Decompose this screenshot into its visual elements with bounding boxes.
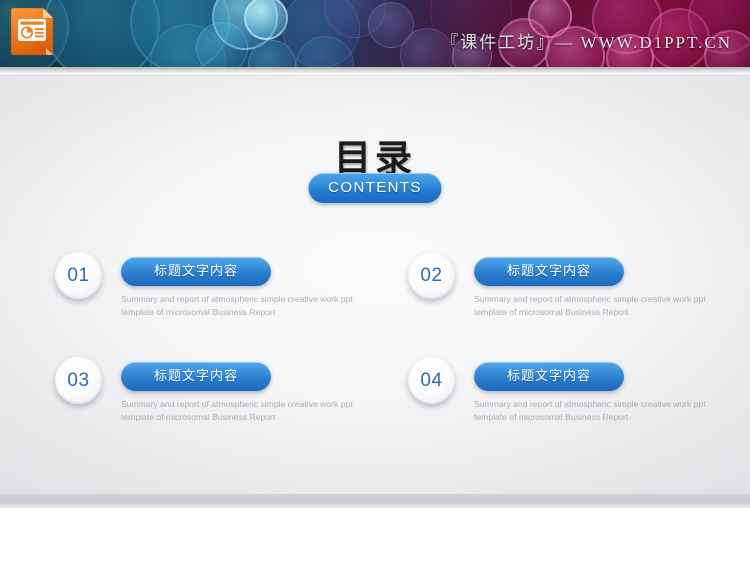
bokeh-circle (212, 0, 278, 50)
header-brand-text: 『课件工坊』— WWW.D1PPT.CN (441, 28, 732, 53)
item-title-pill[interactable]: 标题文字内容 (474, 257, 624, 286)
list-item[interactable]: 04 标题文字内容 Summary and report of atmosphe… (408, 357, 718, 445)
bokeh-circle (282, 0, 360, 67)
item-title-pill[interactable]: 标题文字内容 (474, 362, 624, 391)
item-description: Summary and report of atmospheric simple… (474, 293, 719, 319)
item-number-badge: 03 (55, 357, 102, 404)
bokeh-circle (44, 0, 160, 67)
item-description: Summary and report of atmospheric simple… (121, 398, 366, 424)
item-number-badge: 01 (55, 252, 102, 299)
item-description: Summary and report of atmospheric simple… (121, 293, 366, 319)
presentation-slide: 『课件工坊』— WWW.D1PPT.CN 目录 (0, 0, 750, 563)
item-title-pill[interactable]: 标题文字内容 (121, 362, 271, 391)
item-title-pill[interactable]: 标题文字内容 (121, 257, 271, 286)
footer-bar: 课件工坊 HTTP://WWW.D1PPT.CN (0, 508, 750, 563)
powerpoint-document-icon[interactable] (10, 6, 56, 58)
header-shadow (0, 67, 750, 74)
slide-bottom-edge (0, 494, 750, 508)
bokeh-circle (150, 24, 226, 67)
item-number-badge: 04 (408, 357, 455, 404)
bokeh-circle (130, 0, 230, 67)
item-description: Summary and report of atmospheric simple… (474, 398, 719, 424)
list-item[interactable]: 03 标题文字内容 Summary and report of atmosphe… (55, 357, 365, 445)
slide-content-area: 目录 CONTENTS 01 标题文字内容 Summary and report… (0, 74, 750, 502)
bokeh-circle (196, 22, 248, 67)
list-item[interactable]: 01 标题文字内容 Summary and report of atmosphe… (55, 252, 365, 340)
bokeh-circle (368, 2, 414, 48)
bokeh-circle (244, 0, 288, 40)
bokeh-circle (248, 40, 296, 67)
list-item[interactable]: 02 标题文字内容 Summary and report of atmosphe… (408, 252, 718, 340)
contents-button[interactable]: CONTENTS (309, 173, 442, 203)
item-number-badge: 02 (408, 252, 455, 299)
bokeh-circle (296, 36, 354, 67)
bokeh-circle (324, 0, 386, 38)
header-banner: 『课件工坊』— WWW.D1PPT.CN (0, 0, 750, 67)
